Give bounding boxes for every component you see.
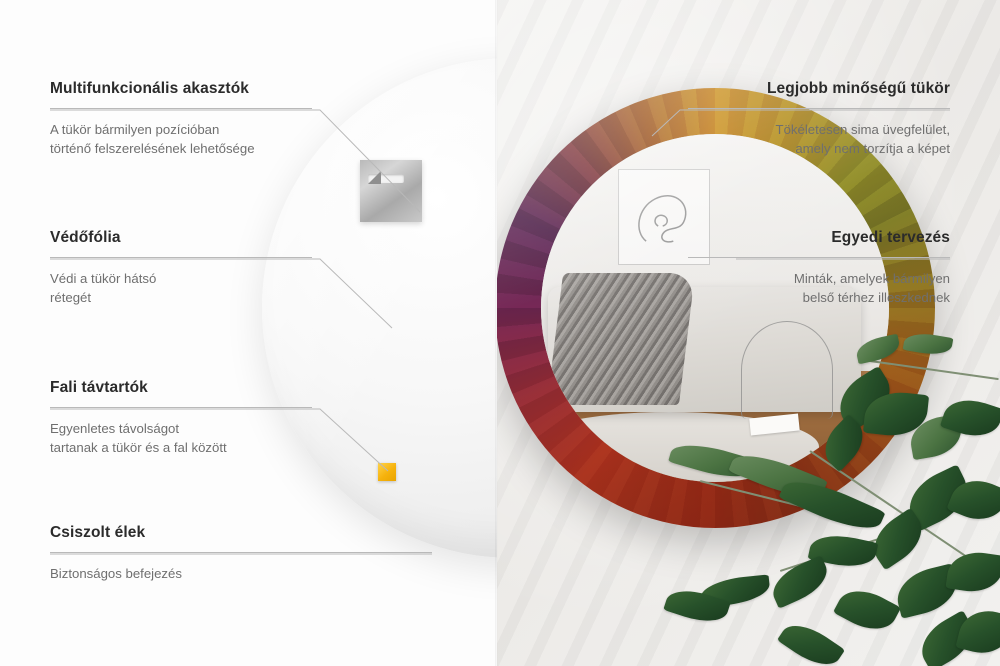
feature-description-line: amely nem torzítja a képet <box>795 141 950 156</box>
reflection-glare <box>541 134 889 482</box>
feature-description-line: Minták, amelyek bármilyen <box>794 271 950 286</box>
feature-description: Egyenletes távolságot tartanak a tükör é… <box>50 419 312 457</box>
feature-title: Egyedi tervezés <box>688 229 950 248</box>
feature-rule <box>50 407 312 408</box>
feature-description: Biztonságos befejezés <box>50 564 432 583</box>
feature-callout-fali-tavtartok: Fali távtartók Egyenletes távolságot tar… <box>50 379 312 457</box>
feature-rule <box>50 552 432 553</box>
feature-description-line: rétegét <box>50 290 91 305</box>
mirror-glass-reflection <box>541 134 889 482</box>
multifunctional-hanger-bracket <box>360 160 422 222</box>
feature-description: Minták, amelyek bármilyen belső térhez i… <box>688 269 950 307</box>
feature-title: Védőfólia <box>50 229 312 248</box>
feature-description: Tökéletesen sima üvegfelület, amely nem … <box>688 120 950 158</box>
infographic-canvas: Multifunkcionális akasztók A tükör bármi… <box>0 0 1000 666</box>
feature-title: Legjobb minőségű tükör <box>688 80 950 99</box>
feature-callout-egyedi-tervezes: Egyedi tervezés Minták, amelyek bármilye… <box>688 229 950 307</box>
wall-spacer <box>378 463 396 481</box>
feature-description-line: Tökéletesen sima üvegfelület, <box>776 122 950 137</box>
feature-description-line: Védi a tükör hátsó <box>50 271 156 286</box>
feature-rule <box>688 257 950 258</box>
feature-description-line: belső térhez illeszkednek <box>803 290 950 305</box>
feature-rule <box>688 108 950 109</box>
feature-description: Védi a tükör hátsó rétegét <box>50 269 312 307</box>
feature-rule <box>50 257 312 258</box>
feature-description-line: Egyenletes távolságot <box>50 421 179 436</box>
feature-callout-csiszolt-elek: Csiszolt élek Biztonságos befejezés <box>50 524 432 583</box>
feature-callout-legjobb-minosegu-tukor: Legjobb minőségű tükör Tökéletesen sima … <box>688 80 950 158</box>
feature-rule <box>50 108 312 109</box>
feature-description: A tükör bármilyen pozícióban történő fel… <box>50 120 312 158</box>
feature-title: Multifunkcionális akasztók <box>50 80 312 99</box>
hanger-keyhole-slot <box>368 174 404 183</box>
feature-title: Csiszolt élek <box>50 524 432 543</box>
feature-description-line: A tükör bármilyen pozícióban <box>50 122 219 137</box>
feature-callout-multifunkcionalis-akasztok: Multifunkcionális akasztók A tükör bármi… <box>50 80 312 158</box>
feature-description-line: történő felszerelésének lehetősége <box>50 141 255 156</box>
feature-description-line: tartanak a tükör és a fal között <box>50 440 227 455</box>
feature-title: Fali távtartók <box>50 379 312 398</box>
feature-callout-vedofolia: Védőfólia Védi a tükör hátsó rétegét <box>50 229 312 307</box>
